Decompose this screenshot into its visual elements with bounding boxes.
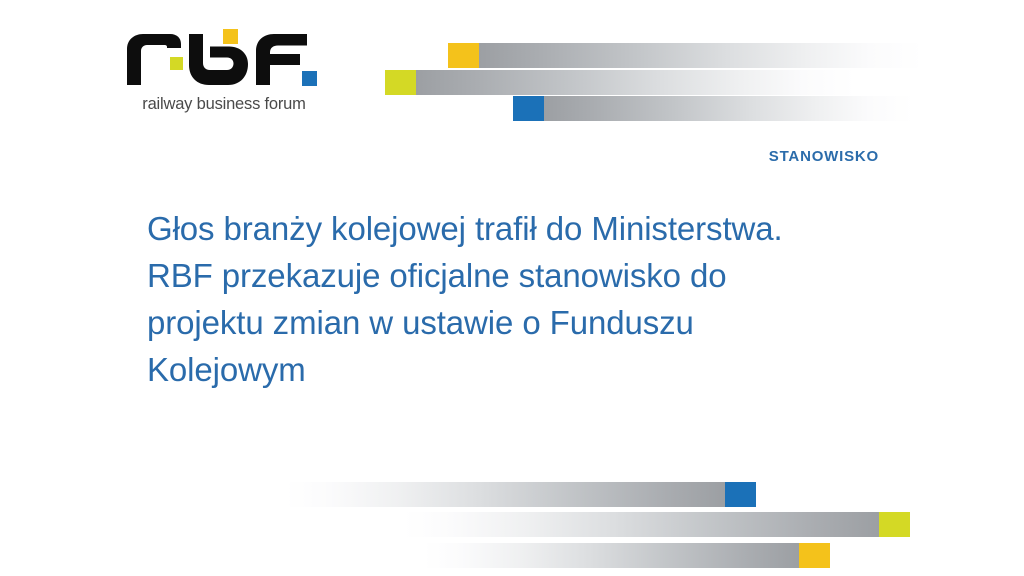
decor-gradient	[286, 482, 725, 507]
logo-lime-dot	[170, 57, 183, 70]
headline-line-1: Głos branży kolejowej trafił do Minister…	[147, 205, 947, 252]
clipped-subtitle-text: — · — · —	[147, 358, 947, 367]
decor-bar-top-lime	[385, 70, 855, 95]
decor-bar-bottom-gold	[424, 543, 830, 568]
decor-gradient	[404, 512, 879, 537]
decor-cap-lime	[385, 70, 416, 95]
rbf-logo: railway business forum	[124, 27, 324, 123]
decor-cap-gold	[448, 43, 479, 68]
decor-bar-top-blue	[513, 96, 913, 121]
logo-tagline: railway business forum	[124, 95, 324, 114]
headline-line-3: projektu zmian w ustawie o Funduszu	[147, 299, 947, 346]
decor-cap-blue	[725, 482, 756, 507]
decor-bar-bottom-blue	[286, 482, 756, 507]
decor-cap-gold	[799, 543, 830, 568]
decor-gradient	[544, 96, 913, 121]
headline-line-2: RBF przekazuje oficjalne stanowisko do	[147, 252, 947, 299]
slide-canvas: railway business forum STANOWISKO Głos b…	[0, 0, 1024, 576]
decor-bar-top-gold	[448, 43, 923, 68]
decor-bar-bottom-lime	[404, 512, 910, 537]
decor-cap-lime	[879, 512, 910, 537]
decor-gradient	[479, 43, 923, 68]
logo-gold-square	[223, 29, 238, 44]
decor-gradient	[424, 543, 799, 568]
clipped-subtitle-remnant: — · — · —	[147, 358, 947, 374]
logo-blue-square	[302, 71, 317, 86]
rbf-logomark-icon	[124, 27, 324, 93]
decor-gradient	[416, 70, 855, 95]
stanowisko-label: STANOWISKO	[769, 148, 879, 165]
decor-cap-blue	[513, 96, 544, 121]
